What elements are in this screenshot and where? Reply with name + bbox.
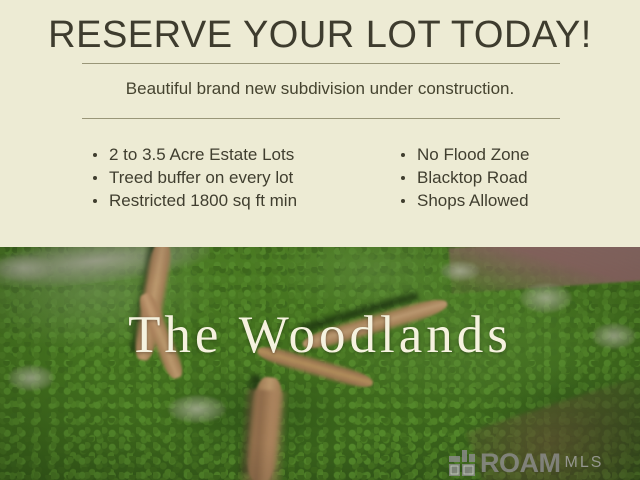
roam-mls-watermark: ROAM MLS	[448, 446, 603, 480]
brush-patch	[168, 395, 226, 423]
list-item: No Flood Zone	[400, 143, 529, 166]
list-item: Treed buffer on every lot	[92, 166, 297, 189]
features-left-column: 2 to 3.5 Acre Estate Lots Treed buffer o…	[92, 143, 297, 212]
list-item: Blacktop Road	[400, 166, 529, 189]
subdivision-name: The Woodlands	[0, 306, 640, 364]
page-title: RESERVE YOUR LOT TODAY!	[0, 12, 640, 58]
header-panel: RESERVE YOUR LOT TODAY! Beautiful brand …	[0, 0, 640, 247]
watermark-brand: ROAM	[480, 449, 561, 477]
features-right-column: No Flood Zone Blacktop Road Shops Allowe…	[400, 143, 529, 212]
aerial-forest-photo: The Woodlands ROAM MLS	[0, 247, 640, 480]
dirt-gully	[236, 389, 290, 480]
features-section: 2 to 3.5 Acre Estate Lots Treed buffer o…	[0, 143, 640, 223]
roam-logo-icon	[448, 449, 476, 477]
brush-patch	[8, 365, 54, 391]
feature-list-left: 2 to 3.5 Acre Estate Lots Treed buffer o…	[92, 143, 297, 212]
listing-flyer: RESERVE YOUR LOT TODAY! Beautiful brand …	[0, 0, 640, 480]
watermark-suffix: MLS	[565, 449, 604, 480]
subtitle: Beautiful brand new subdivision under co…	[0, 77, 640, 101]
divider-bottom	[82, 118, 560, 119]
list-item: Shops Allowed	[400, 189, 529, 212]
brush-patch	[440, 261, 480, 281]
list-item: 2 to 3.5 Acre Estate Lots	[92, 143, 297, 166]
divider-top	[82, 63, 560, 64]
list-item: Restricted 1800 sq ft min	[92, 189, 297, 212]
feature-list-right: No Flood Zone Blacktop Road Shops Allowe…	[400, 143, 529, 212]
